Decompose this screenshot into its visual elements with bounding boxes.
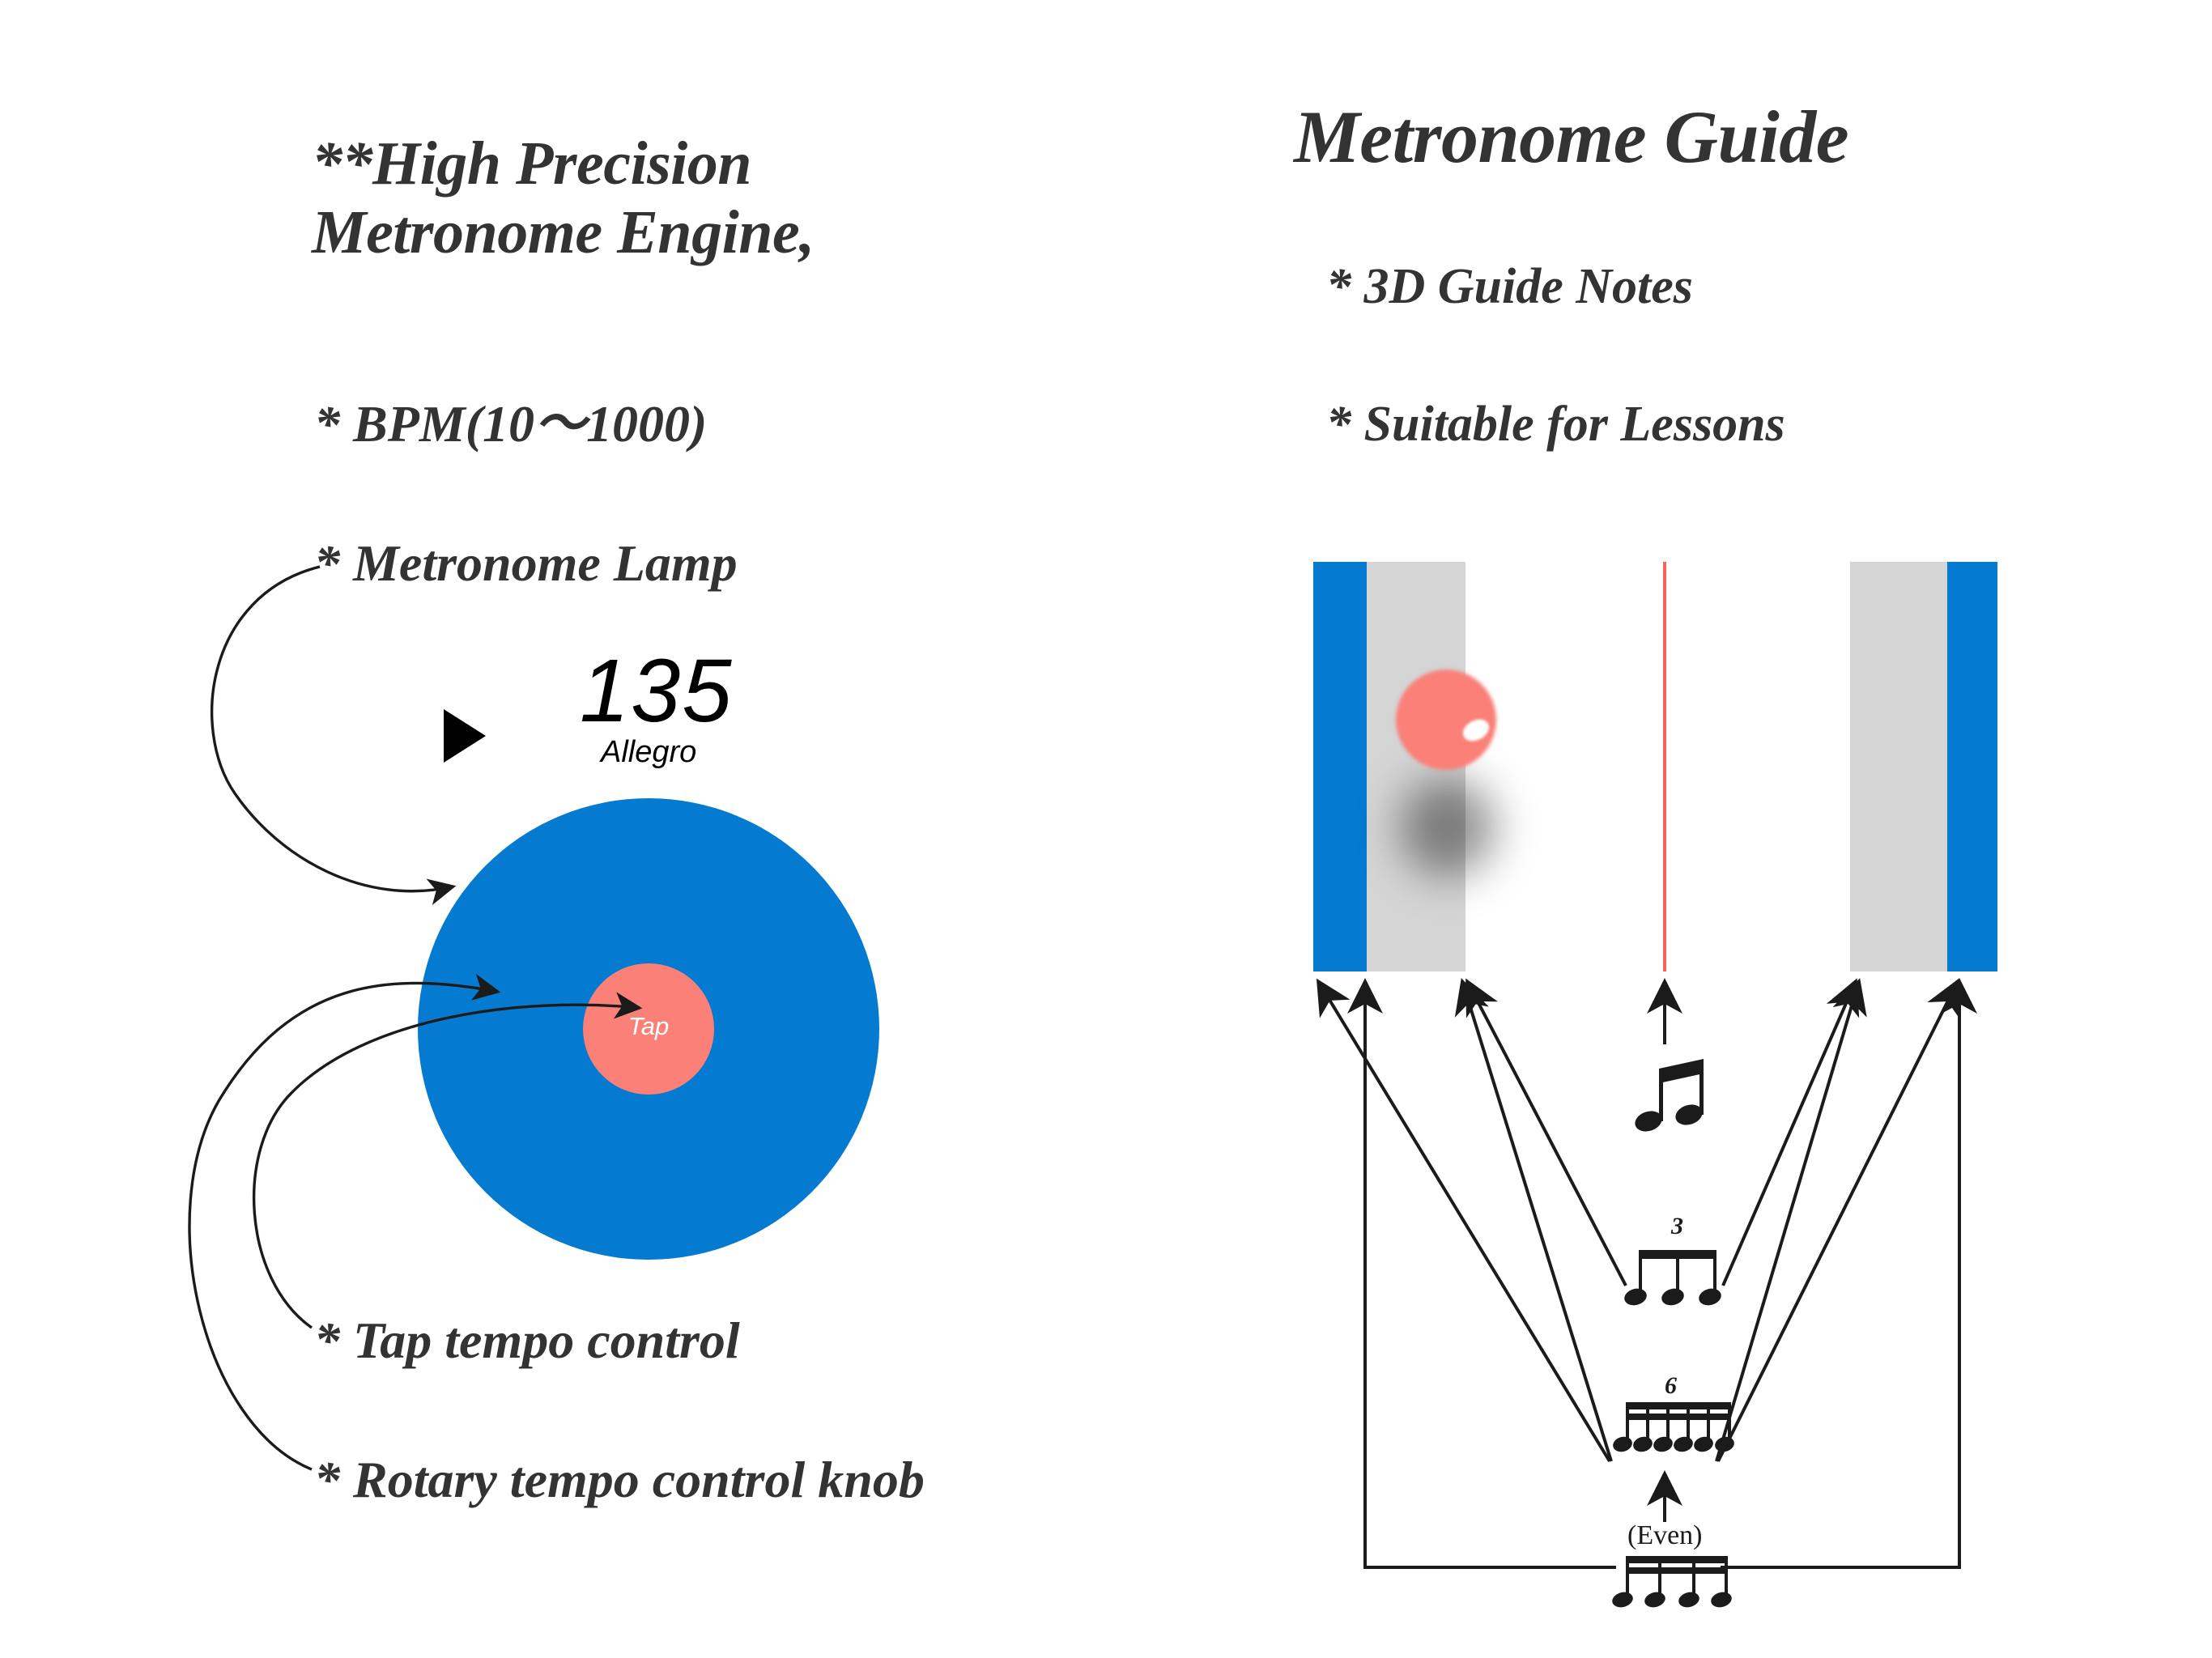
guide-lane-right-blue — [1947, 562, 1997, 971]
guide-bracket-even-left — [1365, 981, 1616, 1567]
page-title: Metronome Guide — [1294, 96, 1848, 179]
guide-lane-right-gray — [1850, 562, 1947, 971]
sextuplet-number-label: 6 — [1665, 1372, 1677, 1400]
bullet-3d-guide-notes: * 3D Guide Notes — [1326, 259, 1693, 315]
callout-arrow-lamp — [212, 567, 453, 891]
guide-arrow-triplet-right — [1723, 981, 1856, 1286]
guide-arrow-sextuplet-left-inner — [1462, 981, 1611, 1461]
triplet-number-label: 3 — [1671, 1213, 1683, 1240]
sextuplet-notes-icon — [1618, 1401, 1739, 1465]
bullet-rotary-tempo-knob: * Rotary tempo control knob — [314, 1451, 925, 1509]
bullet-bpm-range: * BPM(10～1000) — [314, 395, 707, 453]
guide-center-line — [1663, 562, 1666, 971]
guide-bracket-even-right — [1721, 981, 1959, 1567]
left-heading-line1: **High Precision — [312, 130, 751, 198]
guide-arrow-sextuplet-left-outer — [1318, 981, 1610, 1461]
play-triangle-icon[interactable] — [444, 709, 486, 763]
eighth-note-pair-icon — [1631, 1052, 1720, 1141]
guide-arrow-sextuplet-right-outer — [1718, 981, 1958, 1461]
left-panel-heading: **High Precision Metronome Engine, — [312, 130, 815, 267]
tap-button-label: Tap — [583, 1012, 714, 1041]
tempo-name-label: Allegro — [601, 735, 696, 770]
guide-note-shadow — [1400, 779, 1495, 876]
even-label: (Even) — [1627, 1520, 1703, 1551]
bullet-tap-tempo-control: * Tap tempo control — [314, 1312, 740, 1370]
bullet-suitable-lessons: * Suitable for Lessons — [1326, 397, 1785, 453]
guide-arrow-triplet-left — [1467, 981, 1626, 1286]
guide-arrow-sextuplet-right-inner — [1716, 981, 1859, 1461]
bpm-value: 135 — [580, 640, 734, 742]
bullet-metronome-lamp: * Metronome Lamp — [314, 534, 738, 593]
left-heading-line2: Metronome Engine, — [312, 198, 815, 266]
even-notes-icon — [1618, 1554, 1735, 1619]
guide-lane-left-blue — [1313, 562, 1367, 971]
triplet-notes-icon — [1629, 1247, 1734, 1320]
metronome-guide-page: **High Precision Metronome Engine, * BPM… — [0, 0, 2212, 1658]
